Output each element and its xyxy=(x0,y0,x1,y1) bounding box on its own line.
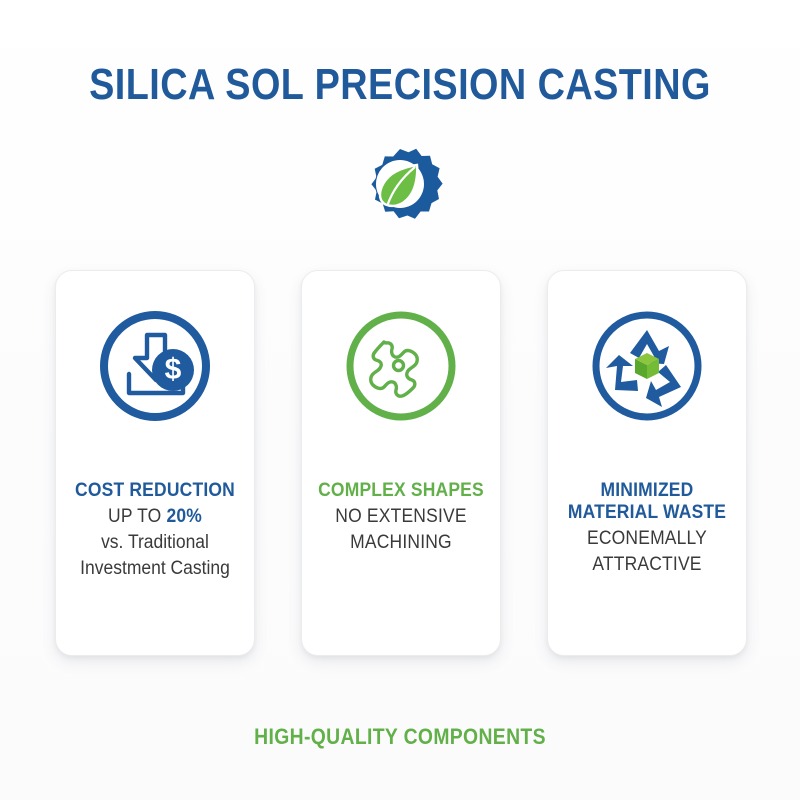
footer-tagline: HIGH-QUALITY COMPONENTS xyxy=(48,724,752,750)
benefit-cards: $ COST REDUCTION UP TO 20% vs. Tradition… xyxy=(55,270,747,656)
card-text-complex-shapes: COMPLEX SHAPES NO EXTENSIVE MACHINING xyxy=(305,480,497,554)
card-subline-2: vs. Traditional xyxy=(67,531,244,554)
card-subline-1: NO EXTENSIVE xyxy=(313,505,490,528)
infographic-page: SILICA SOL PRECISION CASTING xyxy=(0,0,800,800)
cost-reduction-icon: $ xyxy=(93,304,217,428)
card-subline-1: UP TO 20% xyxy=(67,505,244,528)
card-complex-shapes[interactable]: COMPLEX SHAPES NO EXTENSIVE MACHINING xyxy=(301,270,501,656)
recycle-cube-icon xyxy=(585,304,709,428)
card-heading-line-2: MATERIAL WASTE xyxy=(559,502,736,524)
interlocking-puzzle-shape xyxy=(371,342,418,396)
card-text-cost-reduction: COST REDUCTION UP TO 20% vs. Traditional… xyxy=(59,480,251,581)
card-heading: COMPLEX SHAPES xyxy=(313,480,490,502)
footer: HIGH-QUALITY COMPONENTS xyxy=(0,724,800,750)
card-subline-1-accent: 20% xyxy=(166,506,202,527)
card-heading-line-1: MINIMIZED xyxy=(559,480,736,502)
card-subline-3: Investment Casting xyxy=(67,557,244,580)
card-subline-2: MACHINING xyxy=(313,531,490,554)
card-cost-reduction[interactable]: $ COST REDUCTION UP TO 20% vs. Tradition… xyxy=(55,270,255,656)
complex-shapes-icon xyxy=(339,304,463,428)
card-text-minimized-material-waste: MINIMIZED MATERIAL WASTE ECONEMALLY ATTR… xyxy=(551,480,743,576)
page-title: SILICA SOL PRECISION CASTING xyxy=(56,62,744,108)
card-subline-2: ATTRACTIVE xyxy=(559,553,736,576)
dollar-glyph: $ xyxy=(165,353,182,386)
card-heading: COST REDUCTION xyxy=(67,480,244,502)
card-minimized-material-waste[interactable]: MINIMIZED MATERIAL WASTE ECONEMALLY ATTR… xyxy=(547,270,747,656)
gear-leaf-icon xyxy=(348,143,452,247)
card-subline-1-prefix: UP TO xyxy=(108,506,166,527)
header: SILICA SOL PRECISION CASTING xyxy=(0,62,800,108)
card-subline-1: ECONEMALLY xyxy=(559,527,736,550)
